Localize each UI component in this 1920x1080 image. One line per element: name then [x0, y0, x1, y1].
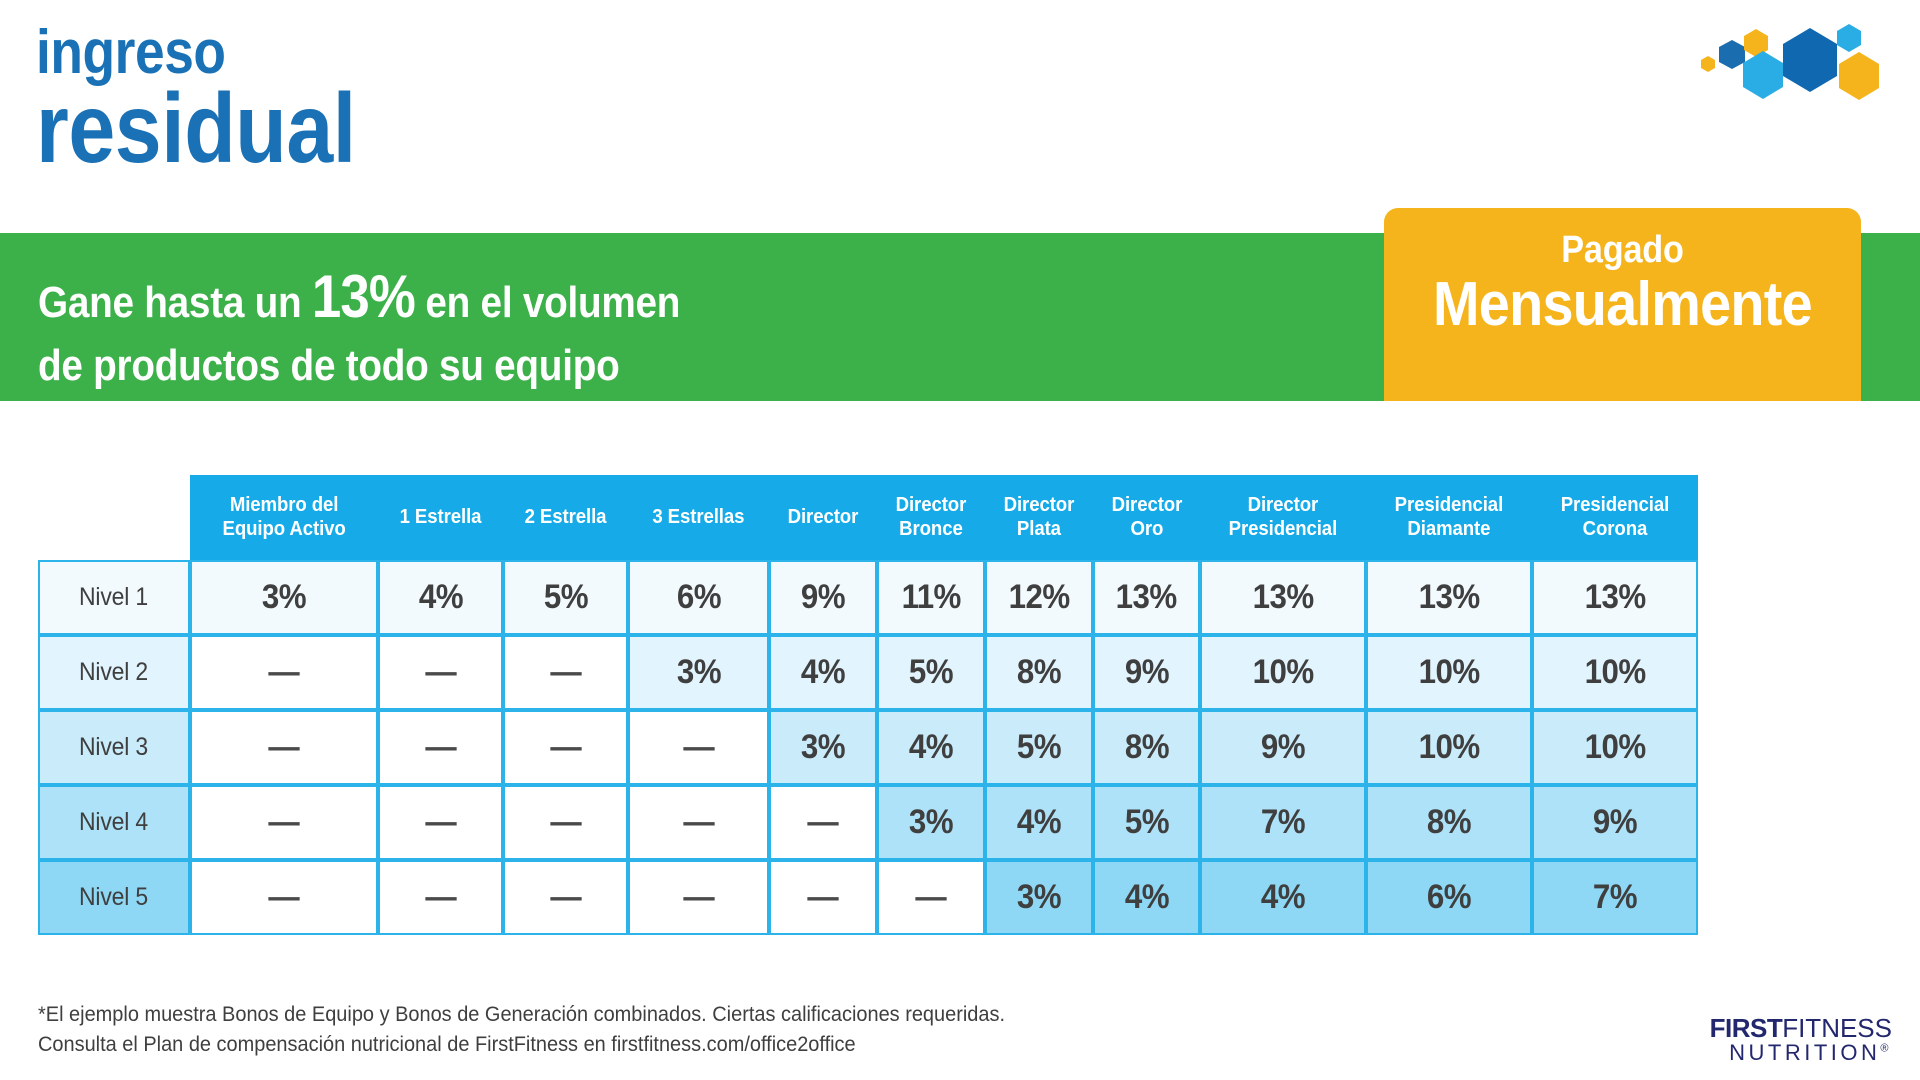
matrix-cell-value: —: [425, 728, 456, 767]
table-corner-cell: [38, 475, 190, 560]
matrix-cell: 13%: [1532, 560, 1698, 635]
matrix-cell: 7%: [1532, 860, 1698, 935]
column-header-director-oro: Director Oro: [1093, 475, 1201, 560]
row-label-4: Nivel 4: [38, 785, 190, 860]
matrix-cell: —: [628, 860, 769, 935]
matrix-cell-value: —: [550, 878, 581, 917]
matrix-cell-value: —: [550, 653, 581, 692]
brand-nutrition: NUTRITION: [1729, 1040, 1880, 1065]
matrix-cell-value: 3%: [1017, 878, 1061, 917]
matrix-cell-value: 4%: [1017, 803, 1061, 842]
banner-text-before: Gane hasta un: [38, 278, 312, 327]
matrix-cell: —: [769, 785, 877, 860]
matrix-cell: —: [190, 710, 378, 785]
matrix-cell: 3%: [985, 860, 1093, 935]
matrix-cell-value: —: [425, 653, 456, 692]
matrix-cell: 5%: [877, 635, 985, 710]
matrix-cell: —: [503, 785, 628, 860]
matrix-cell: 3%: [769, 710, 877, 785]
matrix-cell: 9%: [1093, 635, 1201, 710]
row-label-text: Nivel 2: [79, 658, 148, 687]
matrix-cell-value: 7%: [1261, 803, 1305, 842]
matrix-cell: 11%: [877, 560, 985, 635]
column-header-director-bronce: Director Bronce: [877, 475, 985, 560]
matrix-cell-value: 4%: [801, 653, 845, 692]
row-label-5: Nivel 5: [38, 860, 190, 935]
footnote: *El ejemplo muestra Bonos de Equipo y Bo…: [38, 1000, 1056, 1061]
matrix-cell: 10%: [1200, 635, 1366, 710]
brand-fitness: FITNESS: [1782, 1013, 1892, 1043]
column-header-director-presidencial: Director Presidencial: [1200, 475, 1366, 560]
matrix-cell-value: 4%: [909, 728, 953, 767]
matrix-cell: 13%: [1366, 560, 1532, 635]
matrix-cell: —: [503, 635, 628, 710]
matrix-cell-value: 8%: [1124, 728, 1168, 767]
matrix-cell: 13%: [1093, 560, 1201, 635]
matrix-cell: —: [769, 860, 877, 935]
hexagon-cluster-icon: [1687, 14, 1892, 109]
matrix-cell: 10%: [1532, 710, 1698, 785]
matrix-cell-value: 10%: [1419, 653, 1480, 692]
payout-callout-small: Pagado: [1408, 228, 1837, 273]
matrix-cell: —: [378, 710, 503, 785]
banner-headline: Gane hasta un 13% en el volumen de produ…: [38, 257, 768, 396]
matrix-cell: 7%: [1200, 785, 1366, 860]
matrix-cell-value: 5%: [1124, 803, 1168, 842]
matrix-cell: 12%: [985, 560, 1093, 635]
matrix-cell: —: [877, 860, 985, 935]
matrix-cell: 6%: [628, 560, 769, 635]
matrix-cell-value: 13%: [1253, 578, 1314, 617]
column-header-1-estrella: 1 Estrella: [378, 475, 503, 560]
matrix-cell: 4%: [1200, 860, 1366, 935]
matrix-cell: 5%: [1093, 785, 1201, 860]
matrix-cell: 9%: [1532, 785, 1698, 860]
column-header-director-plata: Director Plata: [985, 475, 1093, 560]
matrix-cell-value: —: [550, 728, 581, 767]
brand-logo-line1: FIRSTFITNESS: [1710, 1015, 1892, 1041]
matrix-cell-value: —: [808, 803, 839, 842]
matrix-cell-value: —: [683, 878, 714, 917]
matrix-cell-value: 7%: [1593, 878, 1637, 917]
matrix-cell: 3%: [877, 785, 985, 860]
row-label-text: Nivel 1: [79, 583, 148, 612]
matrix-cell: 10%: [1366, 635, 1532, 710]
footnote-line-1: *El ejemplo muestra Bonos de Equipo y Bo…: [38, 1000, 1005, 1030]
matrix-cell: 4%: [985, 785, 1093, 860]
matrix-cell: —: [378, 785, 503, 860]
matrix-cell: 9%: [769, 560, 877, 635]
row-label-text: Nivel 4: [79, 808, 148, 837]
banner-text-after: en el volumen: [415, 278, 680, 327]
payout-callout-big: Mensualmente: [1408, 271, 1837, 339]
row-label-text: Nivel 5: [79, 883, 148, 912]
banner-percent: 13%: [312, 263, 415, 330]
row-label-3: Nivel 3: [38, 710, 190, 785]
matrix-cell-value: 13%: [1419, 578, 1480, 617]
commission-matrix-table: Miembro del Equipo Activo 1 Estrella 2 E…: [38, 475, 1698, 935]
footnote-line-2: Consulta el Plan de compensación nutrici…: [38, 1030, 1005, 1060]
matrix-cell: 8%: [1093, 710, 1201, 785]
column-header-presidencial-diamante: Presidencial Diamante: [1366, 475, 1532, 560]
matrix-cell-value: 5%: [909, 653, 953, 692]
matrix-cell: 5%: [985, 710, 1093, 785]
matrix-cell: —: [190, 785, 378, 860]
matrix-cell-value: 8%: [1017, 653, 1061, 692]
matrix-cell: —: [190, 635, 378, 710]
matrix-cell-value: —: [915, 878, 946, 917]
matrix-cell-value: 5%: [1017, 728, 1061, 767]
firstfitness-nutrition-logo: FIRSTFITNESS NUTRITION®: [1710, 1015, 1892, 1064]
table-row: Nivel 4—————3%4%5%7%8%9%: [38, 785, 1698, 860]
matrix-cell: 13%: [1200, 560, 1366, 635]
matrix-cell: —: [628, 785, 769, 860]
matrix-cell-value: —: [425, 803, 456, 842]
matrix-cell: —: [378, 635, 503, 710]
matrix-cell: —: [628, 710, 769, 785]
matrix-cell: 5%: [503, 560, 628, 635]
matrix-cell-value: —: [425, 878, 456, 917]
page-title-line2: residual: [36, 83, 356, 173]
table-header-row: Miembro del Equipo Activo 1 Estrella 2 E…: [38, 475, 1698, 560]
matrix-cell-value: 3%: [909, 803, 953, 842]
matrix-cell: 3%: [628, 635, 769, 710]
matrix-cell: 4%: [877, 710, 985, 785]
matrix-cell-value: —: [808, 878, 839, 917]
matrix-cell-value: 9%: [1124, 653, 1168, 692]
row-label-text: Nivel 3: [79, 733, 148, 762]
matrix-cell-value: 13%: [1585, 578, 1646, 617]
banner-headline-line1: Gane hasta un 13% en el volumen: [38, 257, 680, 337]
matrix-cell: 9%: [1200, 710, 1366, 785]
row-label-2: Nivel 2: [38, 635, 190, 710]
matrix-cell-value: 11%: [901, 578, 960, 617]
matrix-cell-value: 10%: [1253, 653, 1314, 692]
matrix-cell-value: 8%: [1427, 803, 1471, 842]
row-label-1: Nivel 1: [38, 560, 190, 635]
matrix-cell-value: 6%: [677, 578, 721, 617]
matrix-cell-value: 3%: [677, 653, 721, 692]
column-header-director: Director: [769, 475, 877, 560]
matrix-cell-value: 10%: [1419, 728, 1480, 767]
page-title: ingreso residual: [36, 24, 408, 173]
matrix-cell-value: 10%: [1585, 653, 1646, 692]
matrix-cell: —: [378, 860, 503, 935]
brand-trademark: ®: [1880, 1043, 1892, 1055]
matrix-cell-value: —: [683, 803, 714, 842]
matrix-cell-value: —: [683, 728, 714, 767]
matrix-cell: 4%: [769, 635, 877, 710]
matrix-cell-value: —: [269, 653, 300, 692]
table-row: Nivel 13%4%5%6%9%11%12%13%13%13%13%: [38, 560, 1698, 635]
column-header-3-estrellas: 3 Estrellas: [628, 475, 769, 560]
matrix-cell-value: 12%: [1008, 578, 1069, 617]
matrix-cell-value: 9%: [1593, 803, 1637, 842]
payout-frequency-callout: Pagado Mensualmente: [1384, 208, 1861, 401]
column-header-active-team-member: Miembro del Equipo Activo: [190, 475, 378, 560]
matrix-cell: 10%: [1532, 635, 1698, 710]
table-row: Nivel 5——————3%4%4%6%7%: [38, 860, 1698, 935]
matrix-cell: —: [503, 860, 628, 935]
matrix-cell: 10%: [1366, 710, 1532, 785]
matrix-cell-value: 13%: [1116, 578, 1177, 617]
matrix-cell-value: 6%: [1427, 878, 1471, 917]
table-row: Nivel 2———3%4%5%8%9%10%10%10%: [38, 635, 1698, 710]
matrix-cell-value: 4%: [1261, 878, 1305, 917]
matrix-cell: 8%: [1366, 785, 1532, 860]
matrix-cell-value: —: [269, 728, 300, 767]
matrix-cell-value: 3%: [262, 578, 306, 617]
matrix-cell-value: 4%: [419, 578, 463, 617]
matrix-cell: —: [503, 710, 628, 785]
table-row: Nivel 3————3%4%5%8%9%10%10%: [38, 710, 1698, 785]
matrix-cell-value: 4%: [1124, 878, 1168, 917]
column-header-2-estrella: 2 Estrella: [503, 475, 628, 560]
matrix-cell-value: —: [269, 803, 300, 842]
matrix-cell: 6%: [1366, 860, 1532, 935]
column-header-presidencial-corona: Presidencial Corona: [1532, 475, 1698, 560]
matrix-cell: 3%: [190, 560, 378, 635]
matrix-cell: 8%: [985, 635, 1093, 710]
matrix-cell-value: 9%: [1261, 728, 1305, 767]
banner-headline-line2: de productos de todo su equipo: [38, 337, 680, 396]
brand-logo-line2: NUTRITION®: [1710, 1042, 1892, 1064]
matrix-cell-value: 3%: [801, 728, 845, 767]
matrix-cell: 4%: [378, 560, 503, 635]
matrix-cell-value: 10%: [1585, 728, 1646, 767]
matrix-cell-value: 5%: [544, 578, 588, 617]
matrix-cell-value: —: [550, 803, 581, 842]
matrix-cell: —: [190, 860, 378, 935]
matrix-cell: 4%: [1093, 860, 1201, 935]
matrix-cell-value: 9%: [801, 578, 845, 617]
brand-first: FIRST: [1710, 1013, 1783, 1043]
matrix-cell-value: —: [269, 878, 300, 917]
